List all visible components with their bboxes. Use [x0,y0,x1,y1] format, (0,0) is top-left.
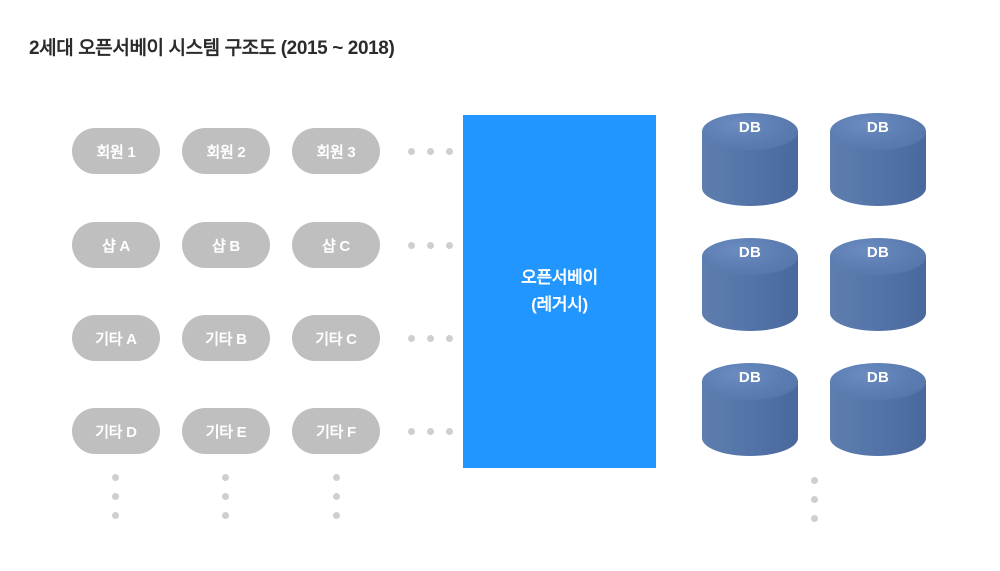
legacy-title-line2: (레거시) [531,292,588,318]
database-cylinder[interactable]: DB [830,363,926,463]
database-label: DB [702,369,798,386]
client-pill[interactable]: 기타 F [292,408,380,454]
dot-icon [333,512,340,519]
legacy-system-block[interactable]: 오픈서베이 (레거시) [463,115,656,468]
client-pill[interactable]: 샵 C [292,222,380,268]
dot-icon [112,512,119,519]
database-cylinder[interactable]: DB [830,113,926,213]
vertical-ellipsis-icon [333,474,340,519]
horizontal-ellipsis-icon [408,242,453,249]
database-cylinder[interactable]: DB [702,363,798,463]
dot-icon [446,242,453,249]
dot-icon [427,148,434,155]
client-pill[interactable]: 기타 E [182,408,270,454]
page-title: 2세대 오픈서베이 시스템 구조도 (2015 ~ 2018) [29,33,394,60]
dot-icon [333,474,340,481]
dot-icon [333,493,340,500]
database-label: DB [830,119,926,136]
dot-icon [446,148,453,155]
dot-icon [427,242,434,249]
client-pill[interactable]: 기타 C [292,315,380,361]
dot-icon [112,493,119,500]
vertical-ellipsis-icon [112,474,119,519]
database-label: DB [830,244,926,261]
dot-icon [408,335,415,342]
horizontal-ellipsis-icon [408,428,453,435]
horizontal-ellipsis-icon [408,335,453,342]
dot-icon [222,474,229,481]
dot-icon [222,493,229,500]
client-pill[interactable]: 회원 2 [182,128,270,174]
dot-icon [811,496,818,503]
database-label: DB [702,119,798,136]
database-cylinder[interactable]: DB [830,238,926,338]
dot-icon [446,428,453,435]
dot-icon [811,515,818,522]
horizontal-ellipsis-icon [408,148,453,155]
client-row: 샵 A 샵 B 샵 C [72,221,462,269]
dot-icon [408,242,415,249]
client-pill[interactable]: 기타 A [72,315,160,361]
dot-icon [222,512,229,519]
dot-icon [427,335,434,342]
dot-icon [811,477,818,484]
client-pill[interactable]: 샵 A [72,222,160,268]
database-label: DB [830,369,926,386]
dot-icon [408,428,415,435]
dot-icon [446,335,453,342]
client-row: 회원 1 회원 2 회원 3 [72,127,462,175]
dot-icon [427,428,434,435]
client-pill[interactable]: 기타 B [182,315,270,361]
vertical-ellipsis-icon [811,477,818,522]
dot-icon [408,148,415,155]
client-pill[interactable]: 기타 D [72,408,160,454]
database-cylinder[interactable]: DB [702,113,798,213]
legacy-title-line1: 오픈서베이 [521,265,598,291]
client-row: 기타 D 기타 E 기타 F [72,407,462,455]
vertical-ellipsis-icon [222,474,229,519]
client-row: 기타 A 기타 B 기타 C [72,314,462,362]
dot-icon [112,474,119,481]
database-label: DB [702,244,798,261]
client-pill[interactable]: 회원 3 [292,128,380,174]
client-pill[interactable]: 샵 B [182,222,270,268]
slide-canvas: 2세대 오픈서베이 시스템 구조도 (2015 ~ 2018) 회원 1 회원 … [0,0,1000,571]
database-cylinder[interactable]: DB [702,238,798,338]
client-pill[interactable]: 회원 1 [72,128,160,174]
